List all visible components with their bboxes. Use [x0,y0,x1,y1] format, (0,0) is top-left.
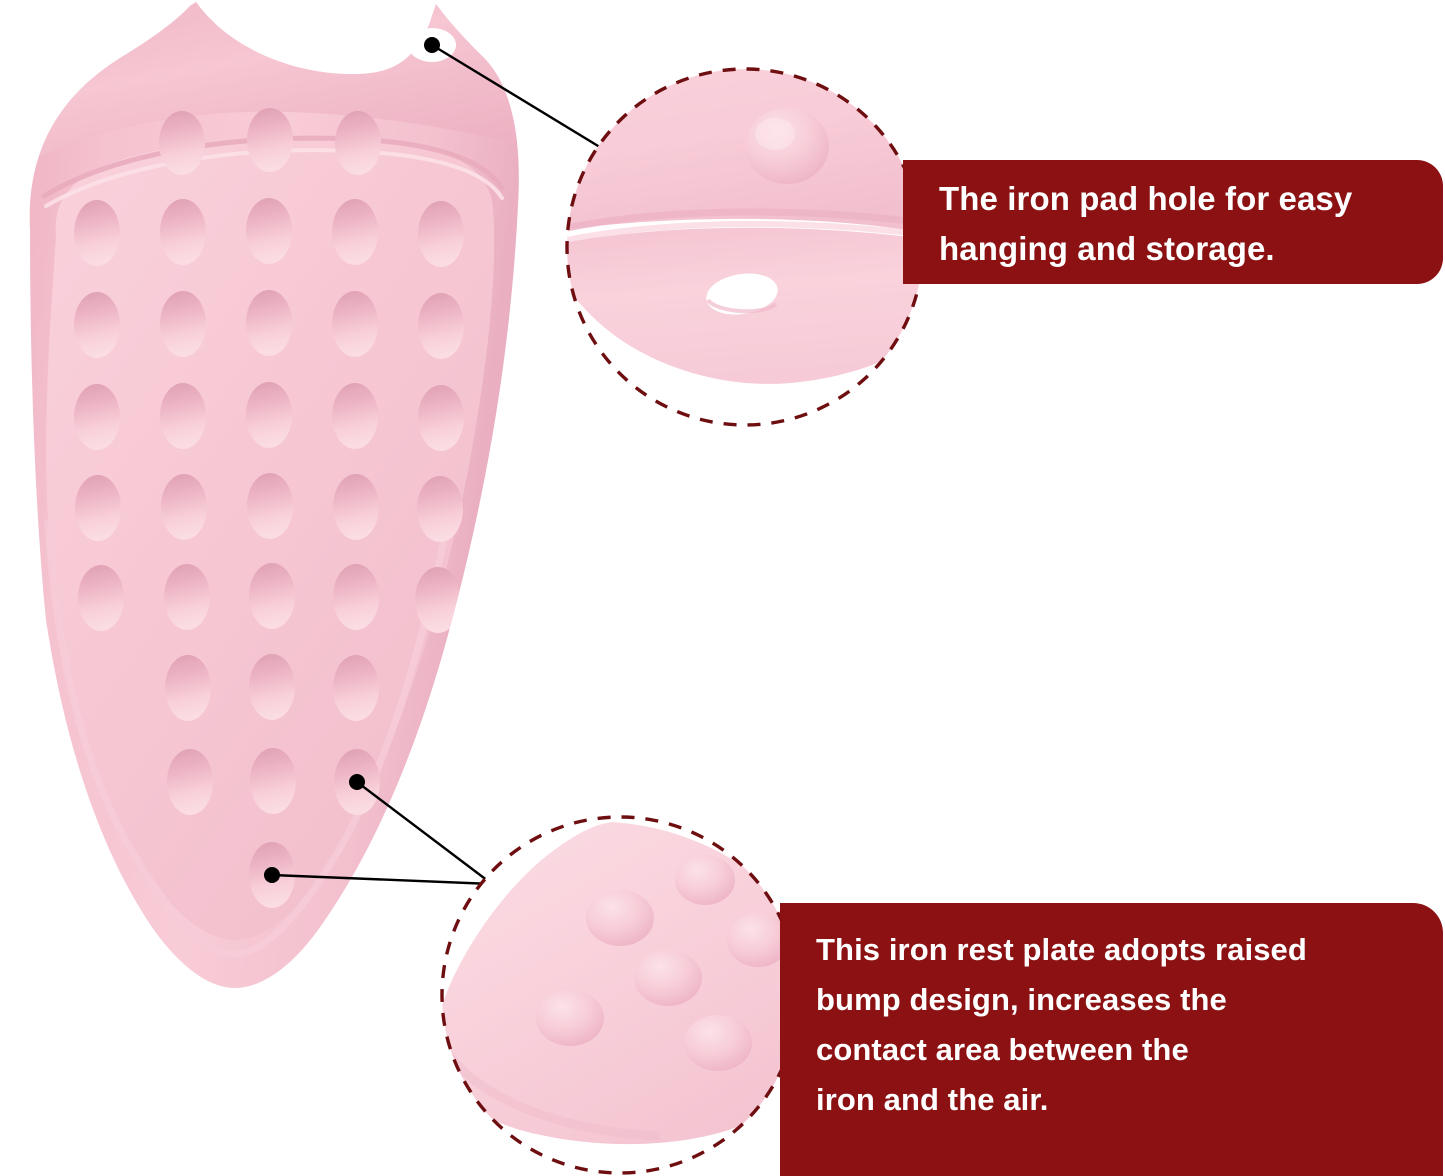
marker-dot-bump-lower [264,867,280,883]
marker-dot-hole [424,37,440,53]
iron-rest-pad [10,0,540,988]
zoom-bump-1 [675,855,735,905]
callout-bump-line-3: contact area between the [816,1025,1443,1075]
callout-bump-line-2: bump design, increases the [816,975,1443,1025]
callout-bump-line-1: This iron rest plate adopts raised [816,925,1443,975]
leader-line-bump-upper [357,782,492,884]
zoom-bump-6 [684,1015,752,1071]
callout-banner-raised-bumps: This iron rest plate adopts raised bump … [780,903,1443,1176]
zoom-circle-raised-bumps [434,810,826,1176]
callout-bump-line-4: iron and the air. [816,1075,1443,1125]
zoom-bump-4 [634,950,702,1006]
callout-banner-hanging-hole: The iron pad hole for easy hanging and s… [903,160,1443,284]
callout-hole-line-2: hanging and storage. [939,224,1443,274]
zoom-circle-hanging-hole [540,39,962,440]
callout-hole-line-1: The iron pad hole for easy [939,174,1443,224]
zoom-bump-2 [586,890,654,946]
zoom-bump-5 [536,990,604,1046]
infographic-canvas: The iron pad hole for easy hanging and s… [0,0,1445,1176]
marker-dot-bump-upper [349,774,365,790]
